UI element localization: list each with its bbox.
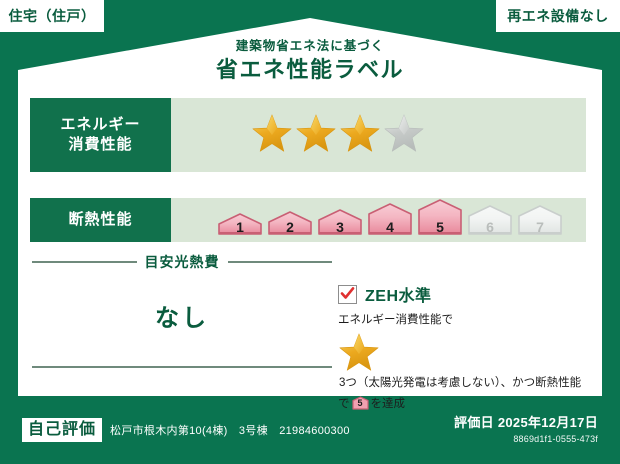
zeh-description: エネルギー消費性能で3つ（太陽光発電は考慮しない）、かつ断熱性能で5を達成 — [338, 312, 590, 416]
divider-right — [228, 261, 333, 263]
insulation-level-2: 2 — [266, 192, 314, 238]
check-icon — [340, 286, 355, 301]
star-filled-icon — [251, 114, 293, 156]
label-header: 建築物省エネ法に基づく 省エネ性能ラベル — [18, 40, 602, 81]
star-empty-icon — [383, 114, 425, 156]
star-rating — [171, 98, 586, 172]
insulation-level-3: 3 — [316, 192, 364, 238]
zeh-checkbox[interactable] — [338, 285, 357, 304]
row-insulation-label-text: 断熱性能 — [68, 210, 132, 230]
zeh-block: ZEH水準 エネルギー消費性能で3つ（太陽光発電は考慮しない）、かつ断熱性能で5… — [338, 282, 590, 416]
utility-cost-heading-text: 目安光熱費 — [145, 252, 220, 272]
badge-building-type: 住宅（住戸） — [0, 0, 104, 32]
badge-renewable-energy: 再エネ設備なし — [496, 0, 620, 32]
insulation-level-4: 4 — [366, 192, 414, 238]
insulation-level-number: 3 — [316, 220, 364, 234]
insulation-level-number: 2 — [266, 220, 314, 234]
insulation-level-6: 6 — [466, 192, 514, 238]
insulation-level-number: 6 — [466, 220, 514, 234]
self-evaluation-badge: 自己評価 — [22, 418, 102, 442]
inline-star-icon — [338, 333, 590, 375]
row-insulation-performance: 断熱性能 1234567 — [30, 198, 586, 242]
star-filled-icon — [338, 333, 380, 375]
insulation-level-number: 1 — [216, 220, 264, 234]
zeh-desc-part1: エネルギー消費性能で — [338, 314, 453, 326]
utility-cost-value: なし — [32, 298, 332, 333]
insulation-level-1: 1 — [216, 192, 264, 238]
serial-number: 8869d1f1-0555-473f — [454, 434, 598, 444]
divider-left — [32, 261, 137, 263]
label-footer: 自己評価 松戸市根木内第10(4棟) 3号棟 21984600300 評価日 2… — [0, 402, 620, 464]
row-energy-label-line2: 消費性能 — [68, 135, 132, 155]
utility-cost-block: 目安光熱費 なし — [32, 252, 332, 368]
zeh-title-line: ZEH水準 — [338, 282, 590, 306]
page-title: 省エネ性能ラベル — [18, 59, 602, 81]
insulation-level-number: 5 — [416, 220, 464, 234]
footer-left: 自己評価 松戸市根木内第10(4棟) 3号棟 21984600300 — [22, 418, 350, 442]
star-filled-icon — [295, 114, 337, 156]
label-subtitle: 建築物省エネ法に基づく — [18, 40, 602, 53]
divider-bottom — [32, 366, 332, 368]
energy-performance-label: 住宅（住戸） 再エネ設備なし 建築物省エネ法に基づく 省エネ性能ラベル エネルギ… — [0, 0, 620, 464]
row-insulation-label: 断熱性能 — [30, 198, 171, 242]
insulation-level-number: 4 — [366, 220, 414, 234]
zeh-title: ZEH水準 — [365, 282, 432, 306]
utility-cost-heading: 目安光熱費 — [32, 252, 332, 272]
insulation-level-number: 7 — [516, 220, 564, 234]
evaluation-date: 評価日 2025年12月17日 — [454, 415, 598, 431]
footer-right: 評価日 2025年12月17日 8869d1f1-0555-473f — [454, 415, 598, 444]
row-energy-label-line1: エネルギー — [60, 115, 140, 135]
insulation-level-5: 5 — [416, 192, 464, 238]
star-filled-icon — [339, 114, 381, 156]
insulation-scale: 1234567 — [171, 198, 586, 242]
property-identifier: 松戸市根木内第10(4棟) 3号棟 21984600300 — [110, 422, 350, 438]
row-energy-label: エネルギー 消費性能 — [30, 98, 171, 172]
row-energy-performance: エネルギー 消費性能 — [30, 98, 586, 172]
insulation-level-7: 7 — [516, 192, 564, 238]
